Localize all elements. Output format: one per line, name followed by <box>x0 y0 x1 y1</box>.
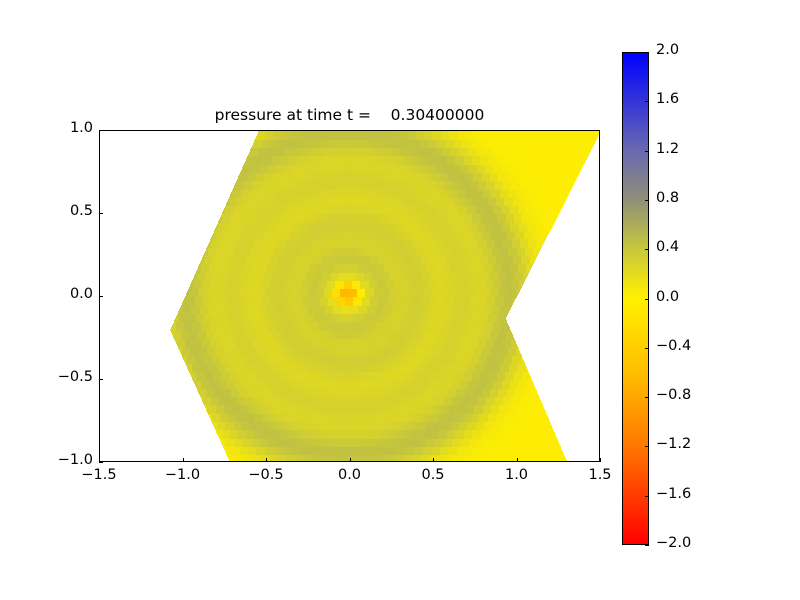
x-tick-label: 0.0 <box>315 467 385 483</box>
x-tick-mark <box>266 458 267 462</box>
x-tick-label: −1.5 <box>64 467 134 483</box>
colorbar-tick-label: 2.0 <box>656 42 679 58</box>
colorbar-tick-mark <box>645 200 649 201</box>
colorbar-tick-mark <box>645 397 649 398</box>
plot-title: pressure at time t = 0.30400000 <box>99 106 600 124</box>
y-tick-mark <box>99 130 103 131</box>
colorbar-tick-label: −2.0 <box>656 535 691 551</box>
colorbar-tick-mark <box>645 446 649 447</box>
colorbar-tick-label: 0.0 <box>656 289 679 305</box>
colorbar-tick-mark <box>645 249 649 250</box>
colorbar-tick-mark <box>645 52 649 53</box>
y-tick-label: 0.5 <box>33 203 93 219</box>
figure-canvas: pressure at time t = 0.30400000 −1.5−1.0… <box>0 0 800 600</box>
main-axes <box>99 130 600 462</box>
colorbar-tick-mark <box>645 545 649 546</box>
y-tick-label: 0.0 <box>33 286 93 302</box>
colorbar-tick-mark <box>645 348 649 349</box>
x-tick-mark <box>350 458 351 462</box>
colorbar-tick-mark <box>645 101 649 102</box>
x-tick-label: −0.5 <box>231 467 301 483</box>
x-tick-label: 0.5 <box>398 467 468 483</box>
colorbar-tick-mark <box>645 151 649 152</box>
colorbar-tick-label: −0.4 <box>656 338 691 354</box>
pressure-field-heatmap <box>100 131 600 462</box>
colorbar-tick-label: −0.8 <box>656 387 691 403</box>
y-tick-mark <box>99 462 103 463</box>
colorbar-tick-label: 1.6 <box>656 91 679 107</box>
y-tick-label: 1.0 <box>33 120 93 136</box>
y-tick-label: −1.0 <box>33 452 93 468</box>
colorbar-tick-label: −1.2 <box>656 436 691 452</box>
colorbar-tick-label: −1.6 <box>656 486 691 502</box>
x-tick-mark <box>183 458 184 462</box>
colorbar-tick-mark <box>645 299 649 300</box>
x-tick-label: −1.0 <box>148 467 218 483</box>
colorbar-tick-mark <box>645 496 649 497</box>
y-tick-mark <box>99 379 103 380</box>
y-tick-label: −0.5 <box>33 369 93 385</box>
colorbar-tick-label: 0.4 <box>656 239 679 255</box>
x-tick-mark <box>600 458 601 462</box>
y-tick-mark <box>99 296 103 297</box>
y-tick-mark <box>99 213 103 214</box>
colorbar-tick-label: 0.8 <box>656 190 679 206</box>
x-tick-mark <box>433 458 434 462</box>
colorbar-tick-label: 1.2 <box>656 141 679 157</box>
x-tick-label: 1.0 <box>482 467 552 483</box>
x-tick-mark <box>517 458 518 462</box>
